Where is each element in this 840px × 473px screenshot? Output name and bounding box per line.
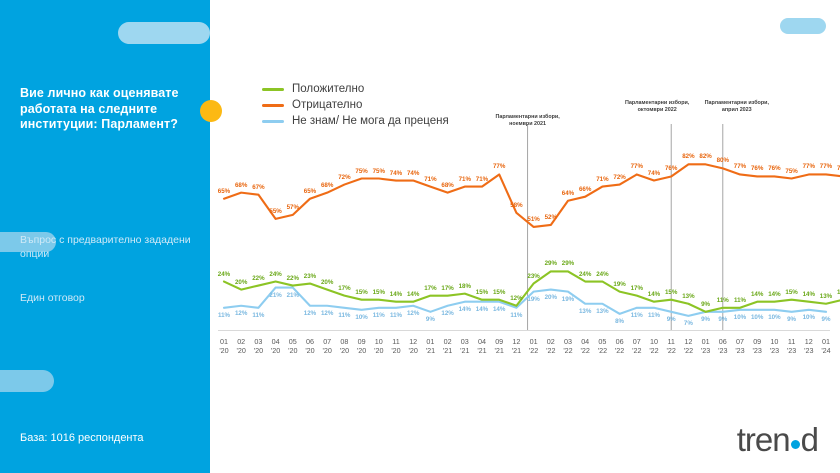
- decoration-pill-bottom: [0, 370, 54, 392]
- data-label: 9%: [813, 316, 839, 324]
- line-chart-svg: [210, 0, 840, 473]
- election-annotation: Парламентарни избори, октомври 2022: [621, 100, 693, 114]
- data-label: 67%: [245, 184, 271, 192]
- question-note-single-answer: Един отговор: [20, 291, 200, 305]
- question-title: Вие лично как оценявате работата на след…: [20, 86, 202, 133]
- data-label: 77%: [486, 163, 512, 171]
- data-label: 76%: [658, 165, 684, 173]
- data-label: 66%: [572, 186, 598, 194]
- data-label: 15%: [830, 289, 840, 297]
- data-label: 11%: [245, 312, 271, 320]
- data-label: 11%: [503, 312, 529, 320]
- data-label: 68%: [314, 182, 340, 190]
- x-axis-tick-label: 01'24: [813, 337, 839, 355]
- data-label: 57%: [280, 204, 306, 212]
- data-label: 23%: [521, 273, 547, 281]
- data-label: 24%: [211, 271, 237, 279]
- data-label: 29%: [555, 260, 581, 268]
- data-label: 19%: [555, 296, 581, 304]
- election-annotation: Парламентарни избори, април 2023: [701, 100, 773, 114]
- data-label: 24%: [589, 271, 615, 279]
- data-label: 76%: [830, 165, 840, 173]
- data-label: 71%: [469, 176, 495, 184]
- brand-logo: trend: [737, 421, 818, 459]
- chart-plot-area: Парламентарни избори, ноември 2021Парлам…: [210, 0, 840, 473]
- data-label: 13%: [589, 308, 615, 316]
- brand-logo-text: trend: [737, 421, 818, 459]
- sidebar-panel: Вие лично как оценявате работата на след…: [0, 0, 210, 473]
- x-axis-line: [218, 330, 830, 331]
- data-label: 58%: [503, 202, 529, 210]
- base-respondents: База: 1016 респондента: [20, 432, 144, 444]
- data-label: 21%: [280, 292, 306, 300]
- question-note-options: Въпрос с предварително зададени опции: [20, 233, 200, 261]
- data-label: 72%: [607, 174, 633, 182]
- decoration-pill-top: [118, 22, 210, 44]
- data-label: 13%: [675, 293, 701, 301]
- data-label: 52%: [538, 214, 564, 222]
- election-annotation: Парламентарни избори, ноември 2021: [492, 114, 564, 128]
- brand-logo-dot: [791, 440, 800, 449]
